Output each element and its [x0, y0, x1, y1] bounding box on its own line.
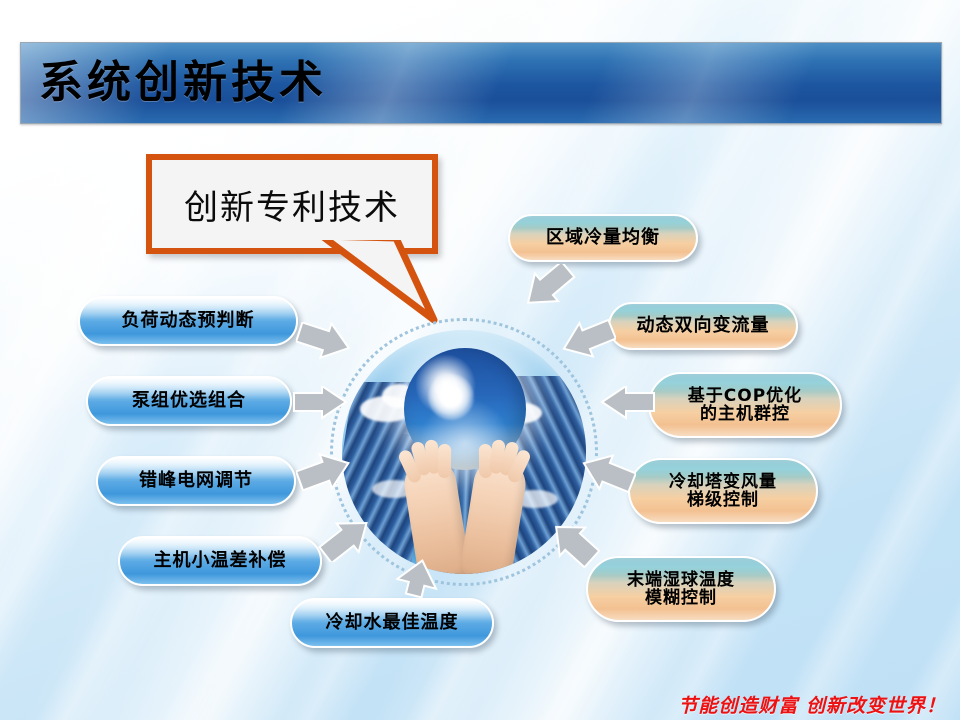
left-item-1-label: 负荷动态预判断 — [122, 311, 255, 330]
globe-hands-image — [342, 330, 586, 574]
right-item-4[interactable]: 冷却塔变风量 梯级控制 — [628, 458, 818, 524]
finger — [438, 444, 452, 478]
right-item-2[interactable]: 动态双向变流量 — [608, 302, 798, 350]
left-item-4[interactable]: 主机小温差补偿 — [118, 536, 322, 586]
right-item-3-label-line2: 的主机群控 — [700, 405, 790, 423]
right-item-5-label-line1: 末端湿球温度 — [627, 571, 735, 589]
left-item-2-label: 泵组优选组合 — [132, 391, 246, 410]
center-graphic — [330, 318, 598, 586]
right-item-5-label-line2: 模糊控制 — [645, 589, 717, 607]
page-title: 系统创新技术 — [39, 61, 327, 105]
footer-slogan: 节能创造财富 创新改变世界！ — [678, 691, 946, 718]
arrow-right-1-icon — [520, 264, 576, 310]
left-item-5-label: 冷却水最佳温度 — [326, 613, 459, 632]
sun-flare-icon — [428, 374, 474, 420]
right-item-3[interactable]: 基于COP优化 的主机群控 — [648, 372, 842, 438]
slide-canvas: 系统创新技术 创新专利技术 — [0, 0, 960, 720]
left-item-1[interactable]: 负荷动态预判断 — [78, 296, 298, 346]
right-item-4-label-line1: 冷却塔变风量 — [669, 473, 777, 491]
left-item-3-label: 错峰电网调节 — [139, 471, 253, 490]
right-item-5[interactable]: 末端湿球温度 模糊控制 — [586, 556, 776, 622]
left-item-2[interactable]: 泵组优选组合 — [86, 376, 292, 426]
right-item-3-label-line1: 基于COP优化 — [688, 387, 802, 405]
right-item-1[interactable]: 区域冷量均衡 — [508, 214, 698, 262]
right-item-4-label-line2: 梯级控制 — [687, 491, 759, 509]
right-item-1-label: 区域冷量均衡 — [546, 228, 660, 247]
callout-label: 创新专利技术 — [184, 180, 400, 229]
left-item-4-label: 主机小温差补偿 — [154, 551, 287, 570]
right-item-2-label: 动态双向变流量 — [637, 316, 770, 335]
left-item-5[interactable]: 冷却水最佳温度 — [290, 598, 494, 648]
title-banner: 系统创新技术 — [20, 42, 942, 124]
callout-box: 创新专利技术 — [146, 154, 438, 254]
left-item-3[interactable]: 错峰电网调节 — [96, 456, 296, 506]
